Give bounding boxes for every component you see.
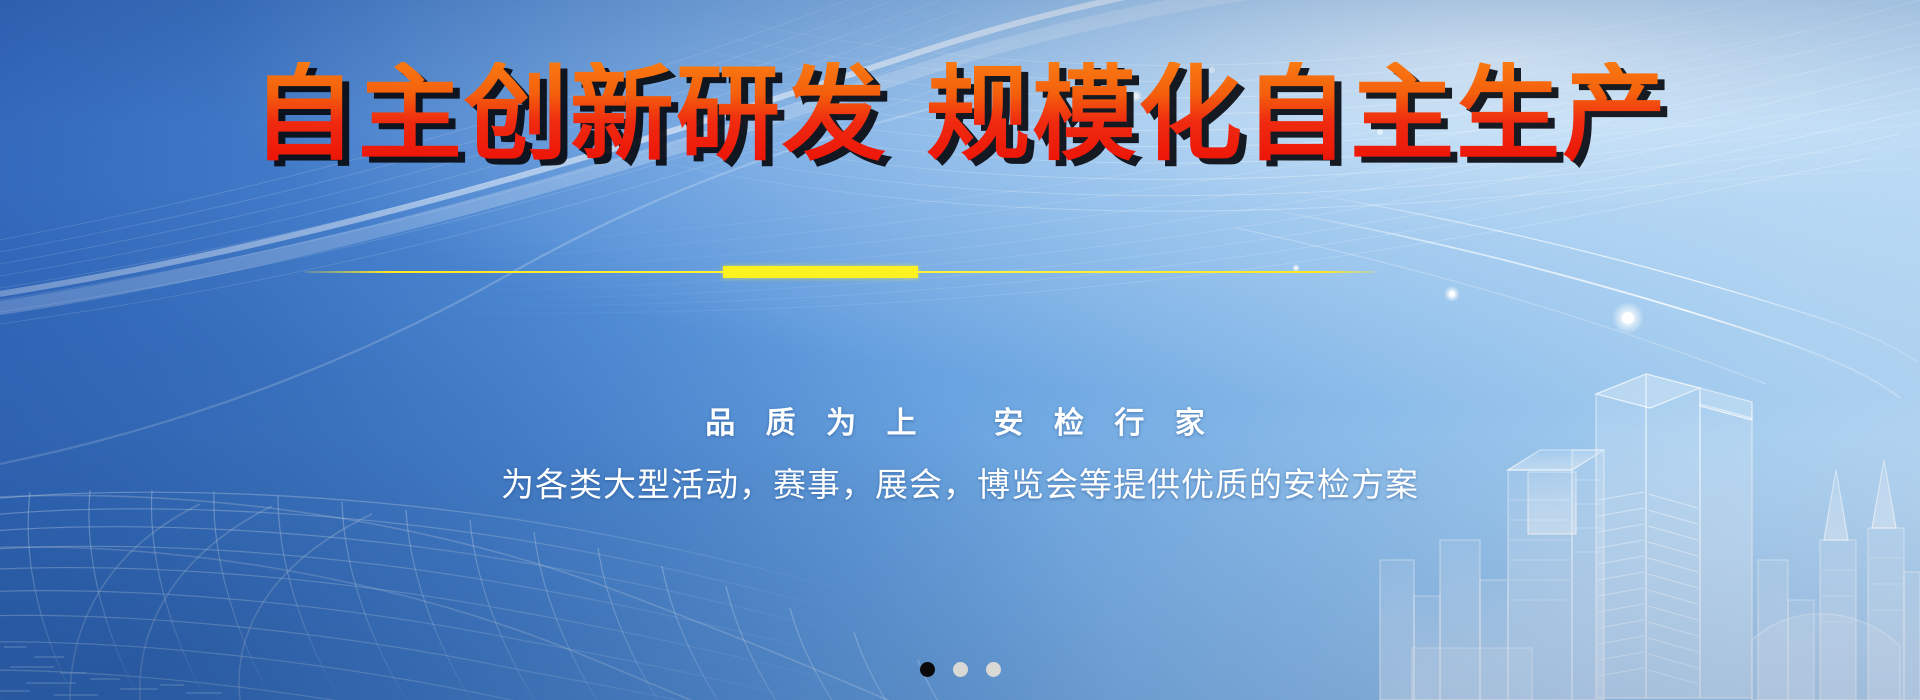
tagline-right: 安 检 行 家 xyxy=(993,406,1214,441)
carousel-indicators xyxy=(0,662,1920,677)
tagline-left: 品 质 为 上 xyxy=(705,406,926,441)
carousel-dot-1[interactable] xyxy=(920,662,935,677)
divider xyxy=(305,266,1375,278)
banner-subtagline: 为各类大型活动，赛事，展会，博览会等提供优质的安检方案 xyxy=(0,458,1920,506)
banner-tagline: 品 质 为 上 安 检 行 家 xyxy=(0,398,1920,442)
banner-headline: 自主创新研发 规模化自主生产 xyxy=(0,62,1920,166)
divider-thick-segment xyxy=(723,266,918,278)
banner-content: 自主创新研发 规模化自主生产 品 质 为 上 安 检 行 家 为各类大型活动，赛… xyxy=(0,0,1920,700)
hero-banner: 自主创新研发 规模化自主生产 品 质 为 上 安 检 行 家 为各类大型活动，赛… xyxy=(0,0,1920,700)
carousel-dot-2[interactable] xyxy=(953,662,968,677)
carousel-dot-3[interactable] xyxy=(986,662,1001,677)
